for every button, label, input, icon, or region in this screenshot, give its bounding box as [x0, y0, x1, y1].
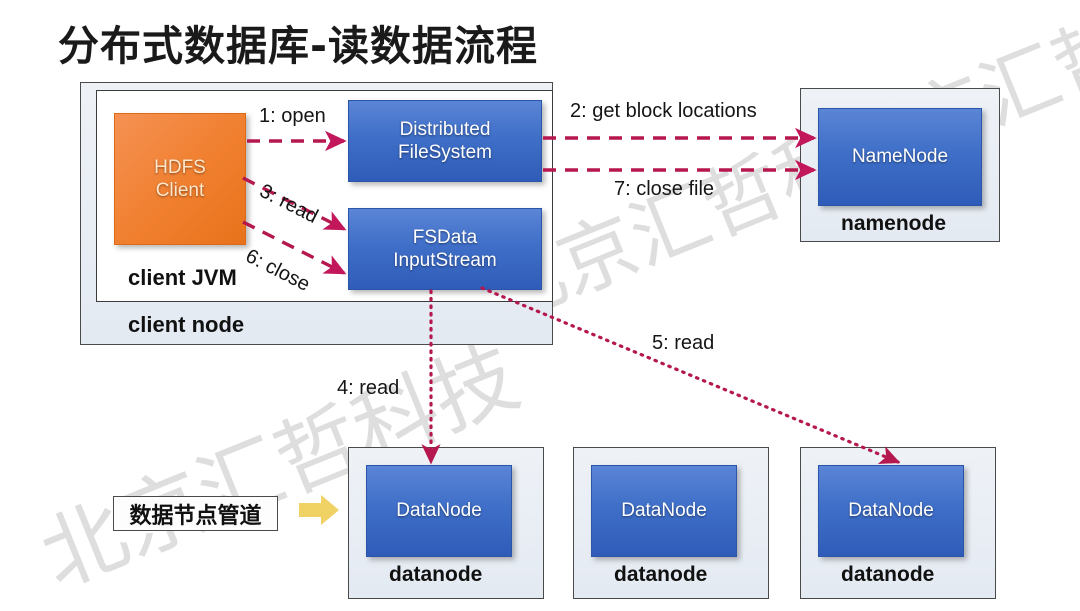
step-label-7: 7: close file [614, 178, 714, 201]
namenode-node[interactable]: NameNode [818, 108, 982, 206]
namenode-caption: namenode [841, 212, 946, 236]
step-label-1: 1: open [259, 105, 326, 128]
step-label-2: 2: get block locations [570, 100, 757, 123]
distributed-filesystem-node[interactable]: Distributed FileSystem [348, 100, 542, 182]
pipeline-tag-label: 数据节点管道 [129, 498, 261, 530]
datanode-caption-3: datanode [841, 563, 934, 587]
step-label-5: 5: read [652, 332, 714, 355]
hdfs-client-node[interactable]: HDFS Client [114, 113, 246, 245]
pipeline-tag: 数据节点管道 [113, 496, 278, 531]
right-arrow-icon [297, 492, 341, 528]
diagram-canvas: 分布式数据库-读数据流程 北京汇哲科技 北京汇哲科技 北京汇哲科技 HDFS C… [0, 0, 1080, 608]
datanode-node-2[interactable]: DataNode [591, 465, 737, 557]
fsdata-inputstream-node[interactable]: FSData InputStream [348, 208, 542, 290]
datanode-caption-2: datanode [614, 563, 707, 587]
fsdata-inputstream-label: FSData InputStream [393, 226, 497, 272]
namenode-label: NameNode [852, 145, 948, 168]
datanode-node-1[interactable]: DataNode [366, 465, 512, 557]
client-node-caption: client node [128, 312, 244, 338]
step-label-4: 4: read [337, 377, 399, 400]
client-jvm-caption: client JVM [128, 265, 237, 291]
hdfs-client-label: HDFS Client [154, 156, 206, 202]
page-title: 分布式数据库-读数据流程 [58, 12, 538, 72]
distributed-filesystem-label: Distributed FileSystem [398, 118, 492, 164]
datanode-label: DataNode [848, 499, 934, 522]
datanode-label: DataNode [396, 499, 482, 522]
datanode-caption-1: datanode [389, 563, 482, 587]
datanode-label: DataNode [621, 499, 707, 522]
datanode-node-3[interactable]: DataNode [818, 465, 964, 557]
